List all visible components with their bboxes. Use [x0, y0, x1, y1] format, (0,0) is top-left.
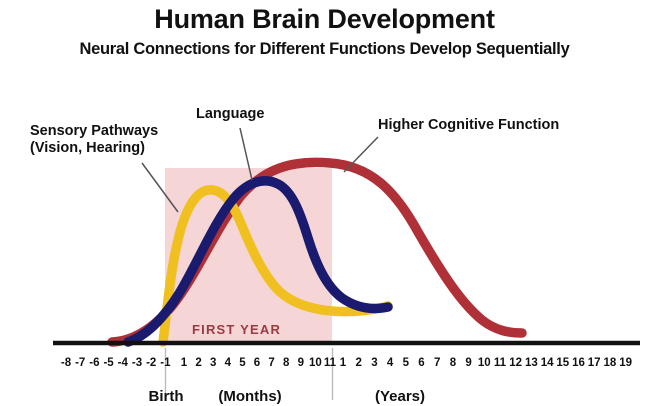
- x-tick-year-18: 18: [603, 357, 616, 369]
- x-tick-month-3: 3: [210, 357, 216, 369]
- axis-caption-years: (Years): [375, 388, 425, 405]
- x-tick-month-10: 10: [309, 357, 322, 369]
- x-tick-prenatal--5: -5: [103, 357, 113, 369]
- brain-development-chart: Human Brain Development Neural Connectio…: [0, 0, 649, 406]
- x-tick-year-9: 9: [465, 357, 471, 369]
- x-tick-prenatal--7: -7: [75, 357, 85, 369]
- x-tick-year-15: 15: [556, 357, 569, 369]
- x-tick-year-1: 1: [340, 357, 346, 369]
- annotation-sensory-pathways: Sensory Pathways (Vision, Hearing): [30, 123, 158, 157]
- x-tick-month-6: 6: [254, 357, 260, 369]
- x-tick-month-4: 4: [225, 357, 231, 369]
- axis-caption-months: (Months): [218, 388, 281, 405]
- x-tick-year-3: 3: [371, 357, 377, 369]
- x-tick-year-14: 14: [541, 357, 554, 369]
- annotation-language: Language: [196, 106, 264, 123]
- x-tick-month-2: 2: [195, 357, 201, 369]
- x-tick-prenatal--4: -4: [118, 357, 128, 369]
- x-tick-year-16: 16: [572, 357, 585, 369]
- x-tick-prenatal--2: -2: [146, 357, 156, 369]
- x-tick-month-5: 5: [239, 357, 245, 369]
- x-tick-month-11: 11: [324, 357, 336, 369]
- x-tick-month-8: 8: [283, 357, 289, 369]
- x-tick-prenatal--3: -3: [132, 357, 142, 369]
- x-tick-year-5: 5: [403, 357, 409, 369]
- x-tick-year-10: 10: [478, 357, 491, 369]
- x-tick-year-11: 11: [494, 357, 506, 369]
- x-tick-year-13: 13: [525, 357, 538, 369]
- x-tick-year-6: 6: [418, 357, 424, 369]
- x-tick-year-17: 17: [588, 357, 601, 369]
- chart-canvas: [0, 0, 649, 406]
- x-tick-month-1: 1: [181, 357, 187, 369]
- axis-caption-birth: Birth: [149, 388, 184, 405]
- x-axis-tick-labels: -8-7-6-5-4-3-2-1123456789101112345678910…: [0, 357, 649, 375]
- x-tick-prenatal--6: -6: [89, 357, 99, 369]
- x-tick-month-9: 9: [298, 357, 304, 369]
- annotation-higher-cognitive-function: Higher Cognitive Function: [378, 117, 559, 134]
- x-tick-month-7: 7: [268, 357, 274, 369]
- x-tick-year-4: 4: [387, 357, 393, 369]
- x-tick-year-8: 8: [450, 357, 456, 369]
- x-tick-year-7: 7: [434, 357, 440, 369]
- x-tick-year-19: 19: [619, 357, 632, 369]
- x-tick-prenatal--1: -1: [160, 357, 170, 369]
- x-tick-prenatal--8: -8: [61, 357, 71, 369]
- x-tick-year-2: 2: [355, 357, 361, 369]
- first-year-band-label: FIRST YEAR: [192, 322, 281, 337]
- x-tick-year-12: 12: [509, 357, 522, 369]
